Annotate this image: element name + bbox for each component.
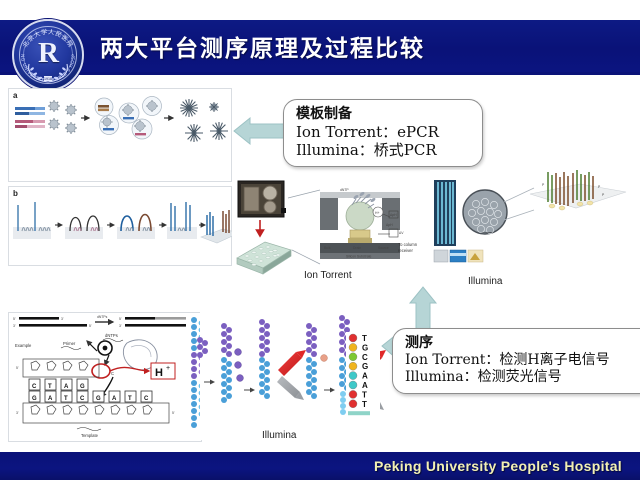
laurel-wreath-icon: 1918	[23, 62, 73, 84]
svg-text:H+: H+	[375, 211, 379, 215]
basecall-letter-3: G	[362, 362, 368, 371]
callout-sequencing: 测序 Ion Torrent：检测H离子电信号 Illumina：检测荧光信号	[392, 328, 640, 394]
svg-text:Source: Source	[378, 246, 389, 250]
primer-label: Primer	[63, 341, 76, 346]
basecall-dot-6	[349, 390, 357, 398]
basecall-baseline	[348, 411, 370, 415]
basecall-letter-7: T	[362, 400, 367, 409]
svg-text:G: G	[96, 396, 101, 402]
callout-sequencing-line3: Illumina：检测荧光信号	[405, 369, 640, 386]
dntp-label: dNTP	[340, 188, 349, 192]
svg-text:T: T	[64, 396, 68, 402]
svg-text:5': 5'	[119, 317, 122, 321]
basecall-readout: TGCGAATT	[346, 332, 380, 418]
svg-text:T: T	[128, 396, 132, 402]
basecall-column: TGCGAATT	[346, 332, 380, 418]
slide: 北京大学人民医院 PEKING UNIVERSITY PEOPLE'S HOSP…	[0, 0, 640, 480]
figure-bridge-pcr: b	[8, 186, 232, 266]
svg-text:5': 5'	[13, 317, 16, 321]
example-label: Example	[15, 343, 32, 348]
callout-sequencing-title: 测序	[405, 335, 640, 352]
svg-text:Bulk: Bulk	[324, 246, 331, 250]
basecall-letter-0: T	[362, 334, 367, 343]
basecall-dot-2	[349, 353, 357, 361]
basecall-letter-2: C	[362, 353, 368, 362]
illumina-sbs-caption: Illumina	[262, 430, 296, 441]
basecall-letter-1: G	[362, 343, 368, 352]
svg-text:ΔV: ΔV	[399, 231, 404, 235]
figure-ion-torrent-chip: dNTP H+ ΔpH ΔpH Bulk Drain Source Silico…	[232, 178, 422, 284]
svg-text:+: +	[166, 365, 170, 372]
svg-text:3': 3'	[13, 324, 16, 328]
primer-base-1: T	[48, 384, 52, 390]
svg-text:Silicon Substrate: Silicon Substrate	[346, 255, 372, 259]
callout-template-prep-line3: Illumina：桥式PCR	[296, 141, 470, 159]
primer-base-0: C	[32, 384, 37, 390]
figure-ion-torrent-chemistry: 5' 3' 3'5' dNTPs 5' 3' 3'5' Example Prim…	[8, 312, 202, 442]
svg-text:C: C	[144, 396, 149, 402]
svg-text:C: C	[111, 371, 114, 376]
figure-illumina-flowcell: PPP Illumina	[430, 170, 635, 280]
svg-text:receiver: receiver	[398, 248, 413, 253]
svg-text:3': 3'	[16, 411, 19, 415]
svg-text:C: C	[80, 396, 85, 402]
svg-text:5': 5'	[89, 324, 92, 328]
svg-text:1918: 1918	[44, 77, 52, 81]
svg-text:5': 5'	[16, 366, 19, 370]
svg-text:G: G	[32, 396, 37, 402]
dntps-label: dNTPs	[105, 333, 118, 338]
figure-template-prep: a	[8, 88, 232, 182]
illumina-caption: Illumina	[468, 276, 502, 287]
svg-text:A: A	[112, 396, 117, 402]
ion-torrent-schematic: dNTP H+ ΔpH ΔpH Bulk Drain Source Silico…	[232, 178, 422, 284]
template-label: Template	[81, 433, 99, 438]
basecall-dot-4	[349, 372, 357, 380]
svg-text:3': 3'	[61, 317, 64, 321]
callout-sequencing-line2: Ion Torrent：检测H离子电信号	[405, 352, 640, 369]
callout-template-prep-line2: Ion Torrent：ePCR	[296, 123, 470, 141]
svg-text:3': 3'	[119, 324, 122, 328]
page-title: 两大平台测序原理及过程比较	[100, 29, 600, 63]
basecall-dot-0	[349, 334, 357, 342]
svg-text:Drain: Drain	[353, 246, 361, 250]
ion-torrent-caption: Ion Torrent	[304, 270, 352, 281]
illumina-flowcell-schematic: PPP	[430, 170, 635, 280]
bridge-pcr-diagram	[9, 197, 231, 259]
arrow-to-template-prep	[232, 118, 284, 150]
svg-text:To column: To column	[398, 242, 418, 247]
svg-text:dNTPs: dNTPs	[97, 315, 108, 319]
basecall-dot-5	[349, 381, 357, 389]
basecall-letter-4: A	[362, 372, 368, 381]
svg-text:A: A	[48, 396, 53, 402]
university-logo: 北京大学人民医院 PEKING UNIVERSITY PEOPLE'S HOSP…	[12, 19, 84, 91]
basecall-dot-3	[349, 362, 357, 370]
basecall-letter-6: T	[362, 390, 367, 399]
svg-text:ΔpH: ΔpH	[386, 223, 393, 227]
svg-text:P: P	[542, 183, 545, 187]
callout-template-prep-title: 模板制备	[296, 106, 470, 123]
callout-template-prep: 模板制备 Ion Torrent：ePCR Illumina：桥式PCR	[283, 99, 483, 167]
epcr-diagram	[9, 97, 231, 147]
footer-text: Peking University People's Hospital	[374, 458, 622, 474]
h-ion-label: H	[155, 367, 163, 379]
svg-text:ΔpH: ΔpH	[390, 213, 397, 217]
basecall-letter-5: A	[362, 381, 368, 390]
ion-chem-diagram: 5' 3' 3'5' dNTPs 5' 3' 3'5' Example Prim…	[9, 313, 201, 441]
basecall-dot-1	[349, 343, 357, 351]
basecall-dot-7	[349, 400, 357, 408]
primer-base-3: G	[80, 384, 85, 390]
primer-base-2: A	[64, 384, 69, 390]
svg-text:5': 5'	[172, 411, 175, 415]
